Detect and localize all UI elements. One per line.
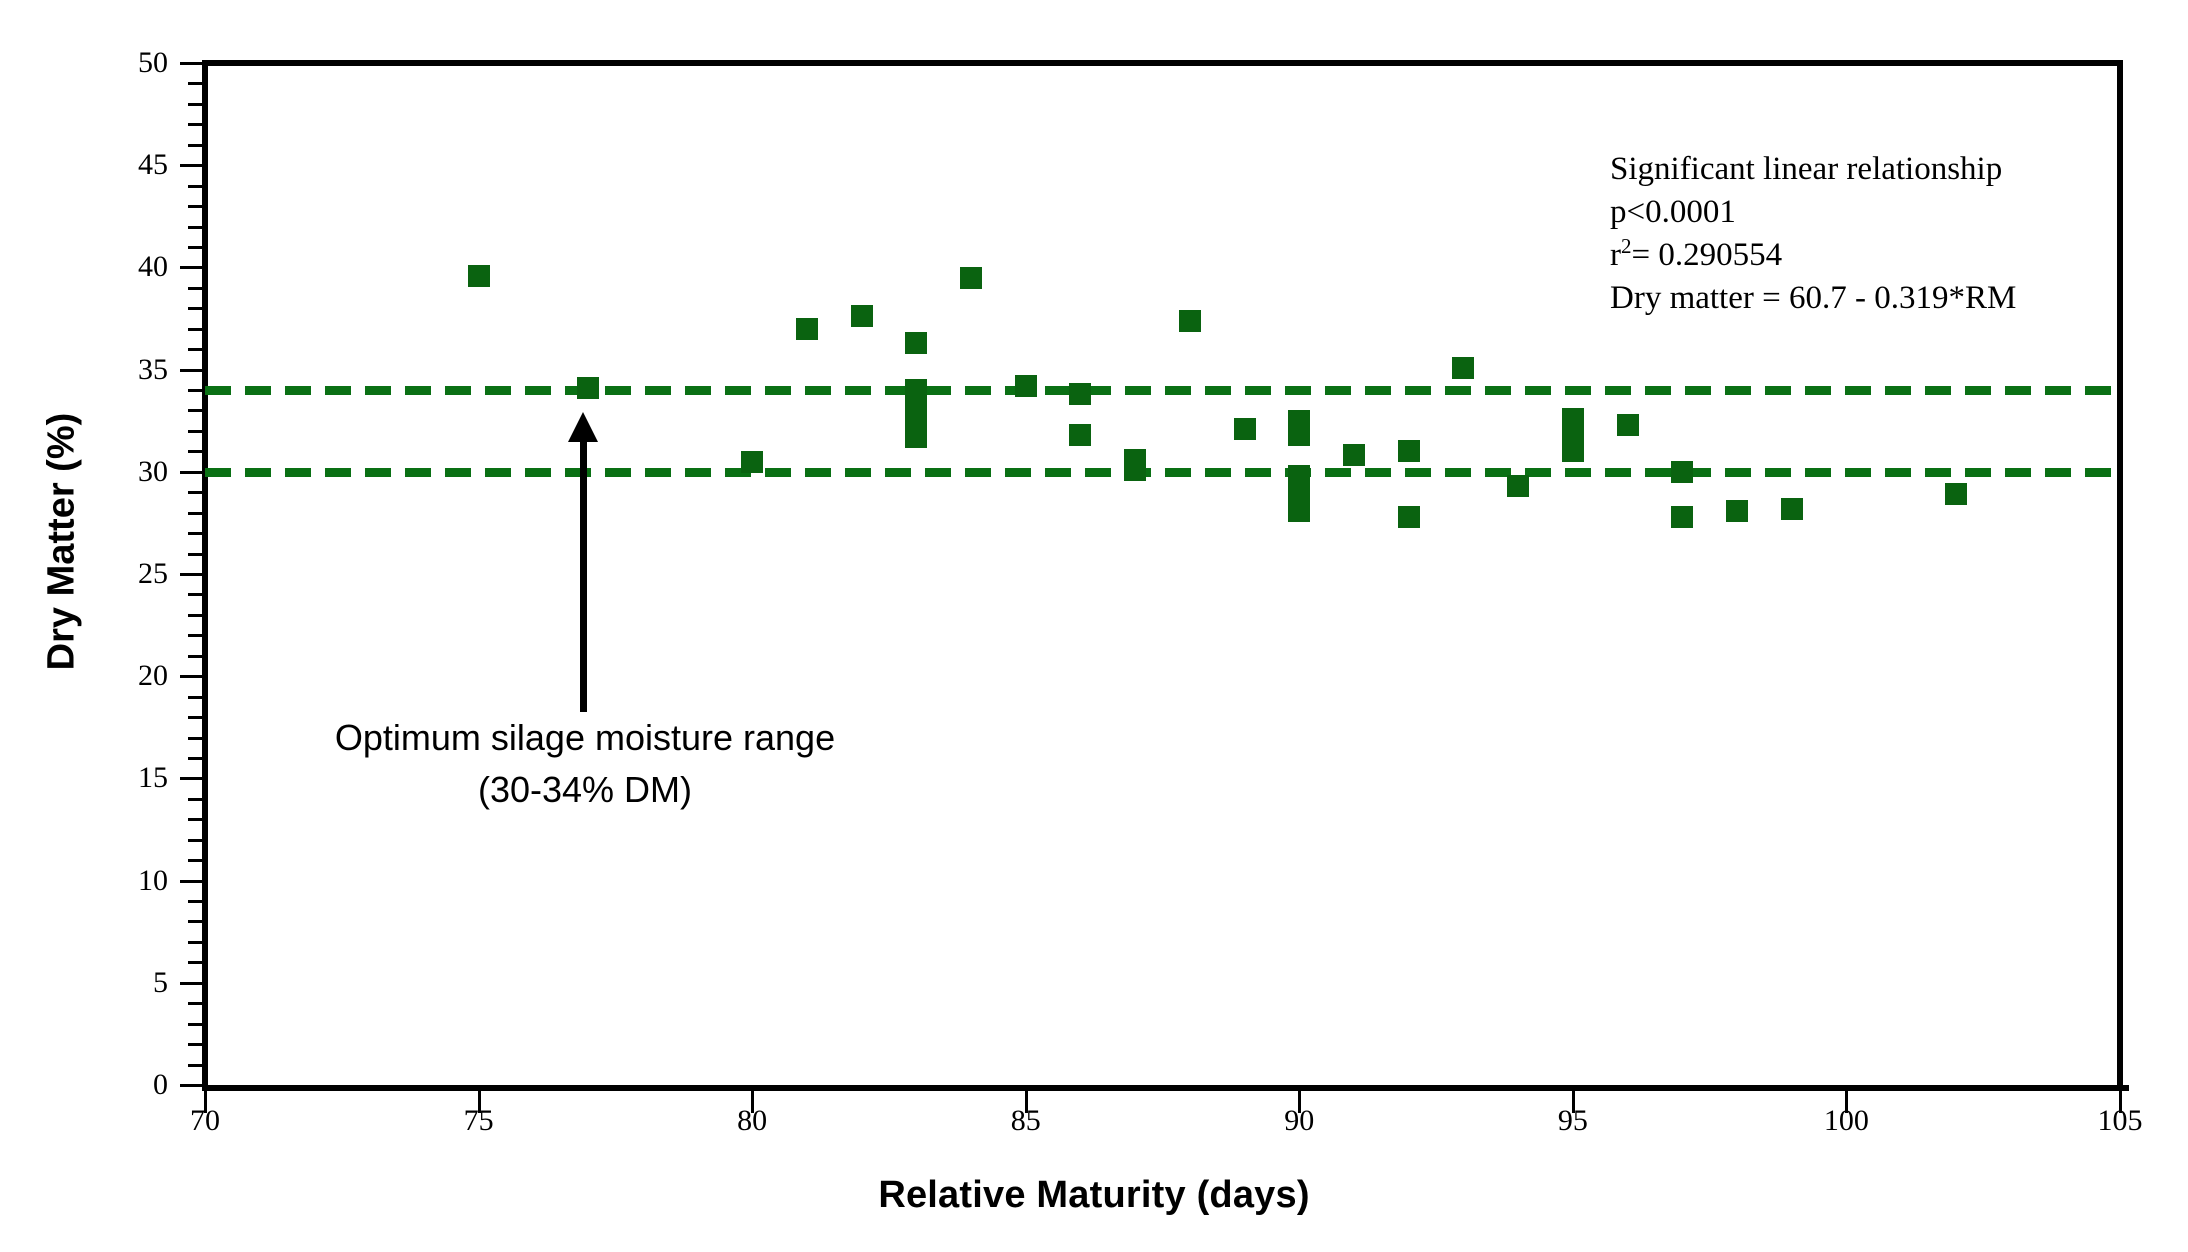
stats-line-significance: Significant linear relationship (1610, 148, 2016, 191)
data-point-marker (905, 426, 927, 448)
y-axis-minor-tick (188, 409, 202, 412)
data-point-marker (1234, 418, 1256, 440)
data-point-marker (1398, 440, 1420, 462)
y-axis-minor-tick (188, 307, 202, 310)
y-axis-tick-label-text: 15 (138, 761, 168, 795)
y-axis-tick-label-text: 50 (138, 46, 168, 80)
y-axis-tick-label-text: 25 (138, 557, 168, 591)
y-axis-minor-tick (188, 655, 202, 658)
y-axis-major-tick (180, 1084, 202, 1087)
optimum-range-arrow-shaft (580, 440, 587, 712)
x-axis-tick-label: 90 (1284, 1104, 1314, 1138)
optimum-range-caption: Optimum silage moisture range (30-34% DM… (170, 712, 1000, 816)
y-axis-minor-tick (188, 839, 202, 842)
y-axis-tick-label-text: 20 (138, 659, 168, 693)
rsquared-symbol: r (1610, 237, 1621, 273)
y-axis-title: Dry Matter (%) (41, 42, 84, 1042)
y-axis-minor-tick (188, 961, 202, 964)
y-axis-minor-tick (188, 696, 202, 699)
y-axis-minor-tick (188, 1002, 202, 1005)
data-point-marker (1069, 424, 1091, 446)
stats-line-pvalue: p<0.0001 (1610, 191, 2016, 234)
data-point-marker (1945, 483, 1967, 505)
y-axis-tick-label-text: 0 (153, 1068, 168, 1102)
data-point-marker (905, 332, 927, 354)
x-axis-tick-label: 100 (1824, 1104, 1869, 1138)
y-axis-minor-tick (188, 1064, 202, 1067)
y-axis-minor-tick (188, 491, 202, 494)
y-axis-major-tick (180, 266, 202, 269)
y-axis-minor-tick (188, 328, 202, 331)
y-axis-minor-tick (188, 859, 202, 862)
y-axis-minor-tick (188, 430, 202, 433)
y-axis-minor-tick (188, 246, 202, 249)
reference-line-30 (205, 468, 2123, 477)
stats-line-rsquared: r2= 0.290554 (1610, 234, 2016, 277)
data-point-marker (1726, 500, 1748, 522)
data-point-marker (468, 265, 490, 287)
data-point-marker (796, 318, 818, 340)
y-axis-major-tick (180, 62, 202, 65)
data-point-marker (1781, 498, 1803, 520)
x-axis-tick-label: 95 (1558, 1104, 1588, 1138)
data-point-marker (1398, 506, 1420, 528)
x-axis-title: Relative Maturity (days) (0, 1174, 2188, 1217)
y-axis-tick-label-text: 10 (138, 864, 168, 898)
data-point-marker (851, 305, 873, 327)
data-point-marker (741, 451, 763, 473)
y-axis-minor-tick (188, 205, 202, 208)
data-point-marker (1069, 383, 1091, 405)
y-axis-major-tick (180, 164, 202, 167)
data-point-marker (1124, 459, 1146, 481)
data-point-marker (1288, 424, 1310, 446)
data-point-marker (1288, 500, 1310, 522)
y-axis-minor-tick (188, 941, 202, 944)
y-axis-major-tick (180, 982, 202, 985)
y-axis-minor-tick (188, 287, 202, 290)
data-point-marker (1507, 475, 1529, 497)
y-axis-minor-tick (188, 634, 202, 637)
optimum-caption-line1: Optimum silage moisture range (170, 712, 1000, 764)
data-point-marker (1179, 310, 1201, 332)
y-axis-minor-tick (188, 389, 202, 392)
y-axis-minor-tick (188, 512, 202, 515)
x-axis-tick-label: 70 (190, 1104, 220, 1138)
y-axis-major-tick (180, 471, 202, 474)
data-point-marker (1452, 357, 1474, 379)
x-axis-tick-label: 80 (737, 1104, 767, 1138)
y-axis-minor-tick (188, 1023, 202, 1026)
y-axis-minor-tick (188, 818, 202, 821)
scatter-chart: 05101520253035404550 707580859095100105 … (0, 0, 2188, 1252)
y-axis-minor-tick (188, 103, 202, 106)
x-axis-tick-label: 105 (2098, 1104, 2143, 1138)
y-axis-minor-tick (188, 593, 202, 596)
x-axis-tick-label: 75 (464, 1104, 494, 1138)
y-axis-minor-tick (188, 1043, 202, 1046)
data-point-marker (1671, 506, 1693, 528)
y-axis-minor-tick (188, 144, 202, 147)
y-axis-minor-tick (188, 82, 202, 85)
optimum-caption-line2: (30-34% DM) (170, 764, 1000, 816)
y-axis-minor-tick (188, 185, 202, 188)
y-axis-tick-label-text: 5 (153, 966, 168, 1000)
y-axis-minor-tick (188, 920, 202, 923)
stats-line-equation: Dry matter = 60.7 - 0.319*RM (1610, 277, 2016, 320)
data-point-marker (1671, 461, 1693, 483)
data-point-marker (1343, 444, 1365, 466)
y-axis-minor-tick (188, 532, 202, 535)
y-axis-minor-tick (188, 123, 202, 126)
y-axis-major-tick (180, 675, 202, 678)
y-axis-tick-label-text: 45 (138, 148, 168, 182)
y-axis-tick-label-text: 40 (138, 250, 168, 284)
rsquared-value: = 0.290554 (1632, 237, 1783, 273)
reference-line-34 (205, 386, 2123, 395)
y-axis-minor-tick (188, 900, 202, 903)
y-axis-major-tick (180, 369, 202, 372)
x-axis-tick-label: 85 (1011, 1104, 1041, 1138)
y-axis-minor-tick (188, 226, 202, 229)
y-axis-major-tick (180, 880, 202, 883)
data-point-marker (577, 377, 599, 399)
data-point-marker (960, 267, 982, 289)
y-axis-tick-label-text: 35 (138, 353, 168, 387)
y-axis-minor-tick (188, 614, 202, 617)
y-axis-minor-tick (188, 553, 202, 556)
data-point-marker (1617, 414, 1639, 436)
rsquared-exponent: 2 (1621, 234, 1632, 258)
data-point-marker (1562, 440, 1584, 462)
data-point-marker (1015, 375, 1037, 397)
optimum-range-arrow-head (568, 412, 598, 442)
y-axis-tick-label-text: 30 (138, 455, 168, 489)
y-axis-minor-tick (188, 348, 202, 351)
y-axis-major-tick (180, 573, 202, 576)
y-axis-minor-tick (188, 450, 202, 453)
statistics-annotation: Significant linear relationship p<0.0001… (1610, 148, 2016, 320)
